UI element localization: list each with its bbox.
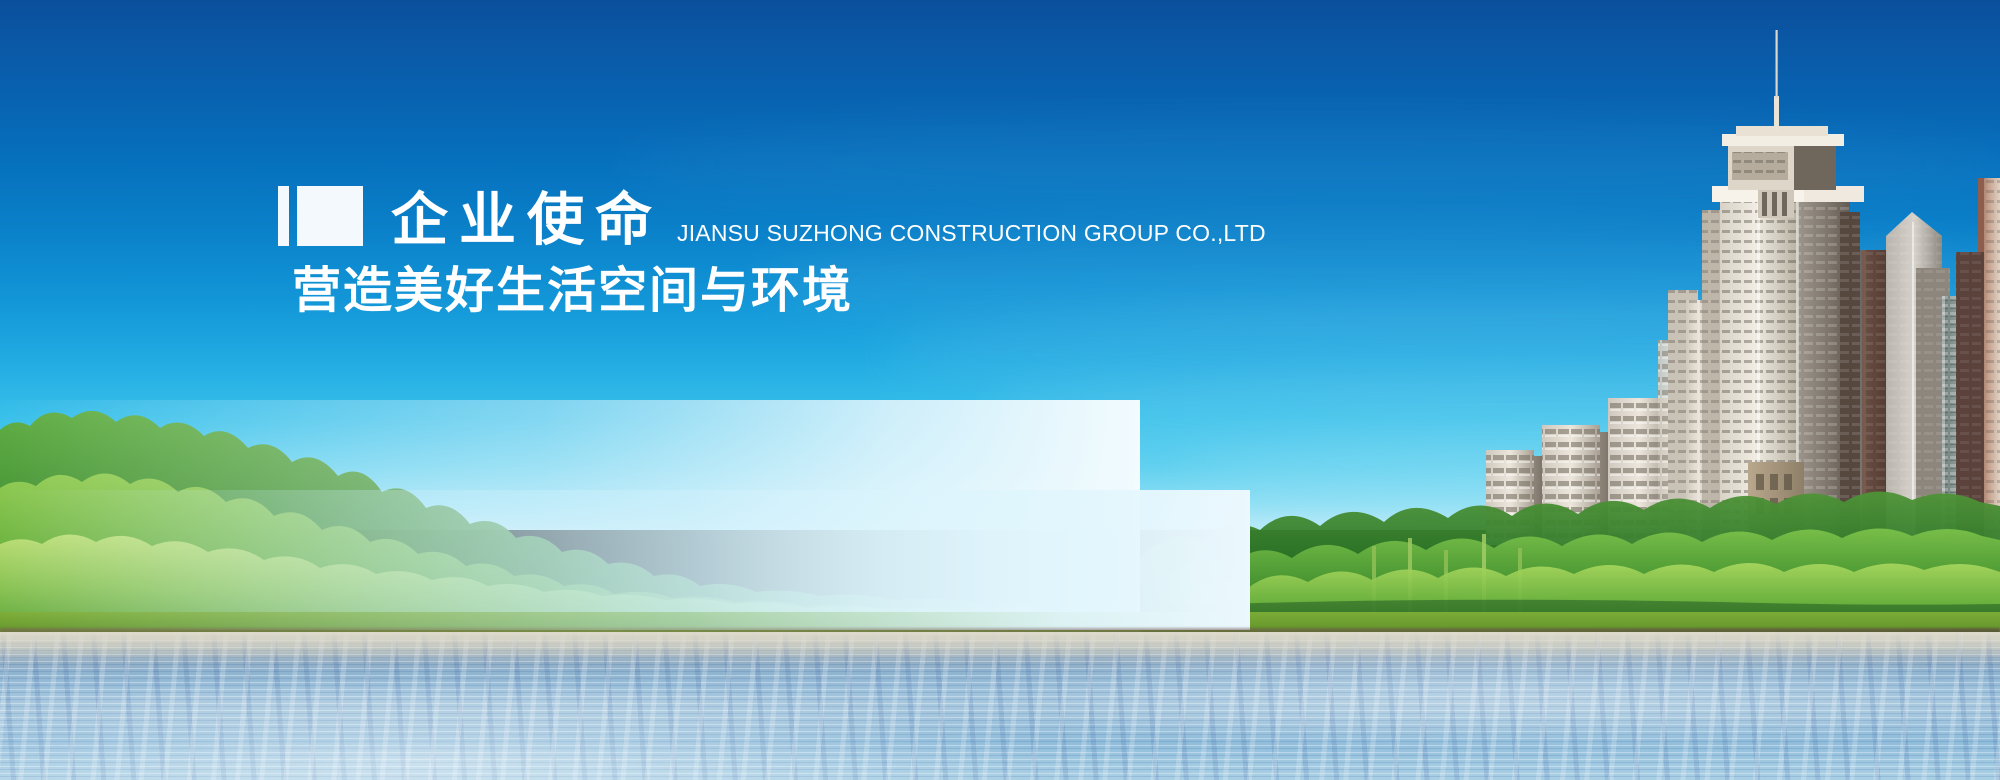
bar-and-square-mark-icon — [278, 186, 363, 246]
mark-square-icon — [297, 186, 363, 246]
headline-row: 企业使命 JIANSU SUZHONG CONSTRUCTION GROUP C… — [278, 180, 1266, 250]
mark-bar-icon — [278, 186, 289, 246]
headline-english: JIANSU SUZHONG CONSTRUCTION GROUP CO.,LT… — [677, 220, 1266, 250]
office-tower-brown-right — [1956, 252, 1984, 545]
headline-chinese: 企业使命 — [391, 190, 663, 250]
headline-block: 企业使命 JIANSU SUZHONG CONSTRUCTION GROUP C… — [278, 180, 1266, 320]
mark-gap — [289, 186, 297, 246]
residential-tower-4 — [1542, 425, 1618, 545]
residential-tower-5 — [1486, 450, 1550, 545]
city-skyline — [1480, 0, 2000, 545]
subtitle-chinese: 营造美好生活空间与环境 — [292, 262, 1266, 320]
river-water — [0, 632, 2000, 780]
tower-main-spire — [1774, 30, 1779, 130]
water-far-fade — [0, 632, 2000, 662]
hero-banner: 企业使命 JIANSU SUZHONG CONSTRUCTION GROUP C… — [0, 0, 2000, 780]
cloud-band-icon — [60, 455, 960, 510]
low-rise-block — [1748, 462, 1804, 545]
